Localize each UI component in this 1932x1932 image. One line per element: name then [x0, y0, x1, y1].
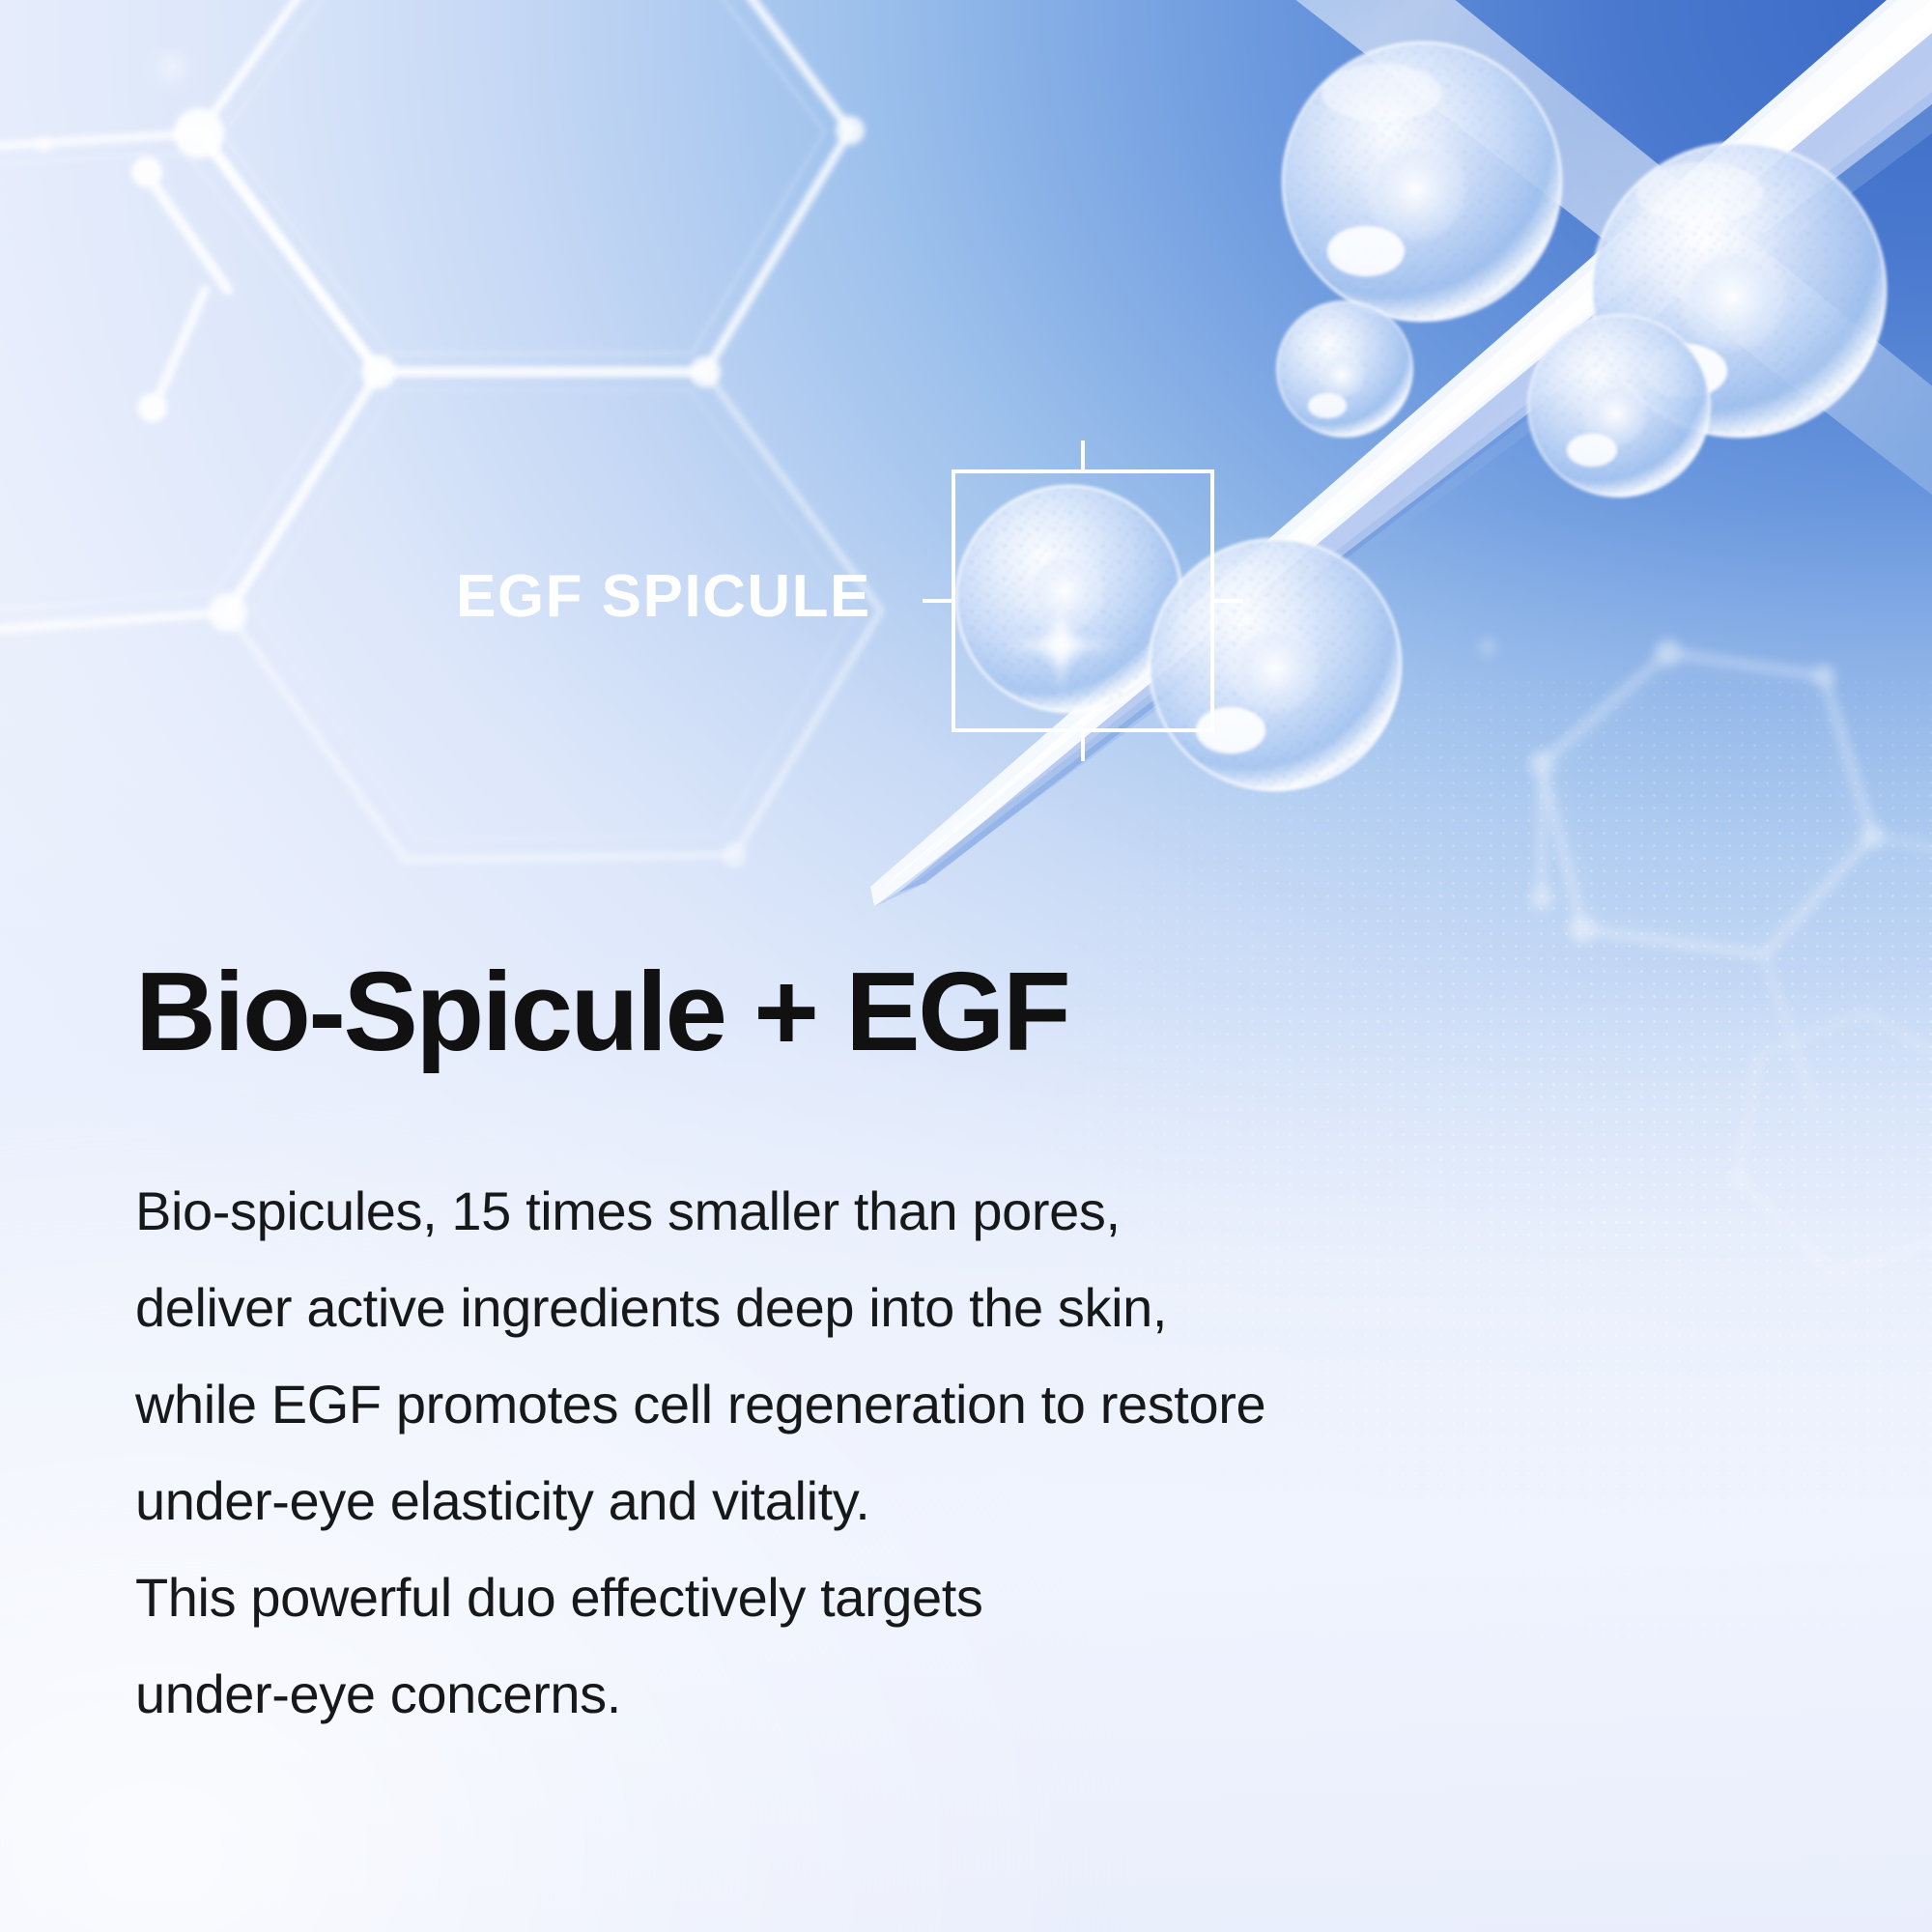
crosshair-tick-bottom	[1081, 732, 1085, 761]
copy-block: Bio-Spicule + EGF Bio-spicules, 15 times…	[135, 954, 1835, 1743]
syringe-and-spicule-beads	[0, 0, 1932, 966]
spicule-bead-large-top	[1283, 43, 1561, 321]
body-line: Bio-spicules, 15 times smaller than pore…	[135, 1163, 1835, 1260]
promo-banner: EGF SPICULE Bio-Spicule + EGF Bio-spicul…	[0, 0, 1932, 1932]
crosshair-tick-top	[1081, 440, 1085, 469]
spicule-bead-small-left	[1277, 301, 1412, 437]
hexagon-molecule-top-left	[174, 0, 865, 389]
spicule-bead-framed	[956, 486, 1182, 712]
hexagon-molecule-left	[0, 133, 379, 653]
body-line: while EGF promotes cell regeneration to …	[135, 1356, 1835, 1453]
molecule-bond-sticks	[36, 57, 228, 422]
egf-spicule-label: EGF SPICULE	[456, 567, 871, 627]
spicule-bead-right	[1592, 143, 1886, 437]
microneedle-syringe	[870, 0, 1932, 906]
body-line: deliver active ingredients deep into the…	[135, 1260, 1835, 1356]
frame-edge-top	[952, 469, 1214, 473]
targeting-frame	[952, 469, 1214, 732]
spicule-bead-lower-mid	[1528, 315, 1710, 497]
body-paragraph: Bio-spicules, 15 times smaller than pore…	[135, 1068, 1835, 1743]
frame-edge-right	[1210, 469, 1214, 732]
spicule-bead-lower-right	[1150, 539, 1401, 790]
crosshair-tick-right	[1214, 599, 1243, 603]
crosshair-tick-left	[923, 599, 952, 603]
body-line: This powerful duo effectively targets	[135, 1549, 1835, 1646]
page-title: Bio-Spicule + EGF	[135, 954, 1835, 1068]
frame-edge-left	[952, 469, 955, 732]
body-line: under-eye elasticity and vitality.	[135, 1453, 1835, 1549]
frame-edge-bottom	[952, 728, 1214, 732]
body-line: under-eye concerns.	[135, 1646, 1835, 1743]
